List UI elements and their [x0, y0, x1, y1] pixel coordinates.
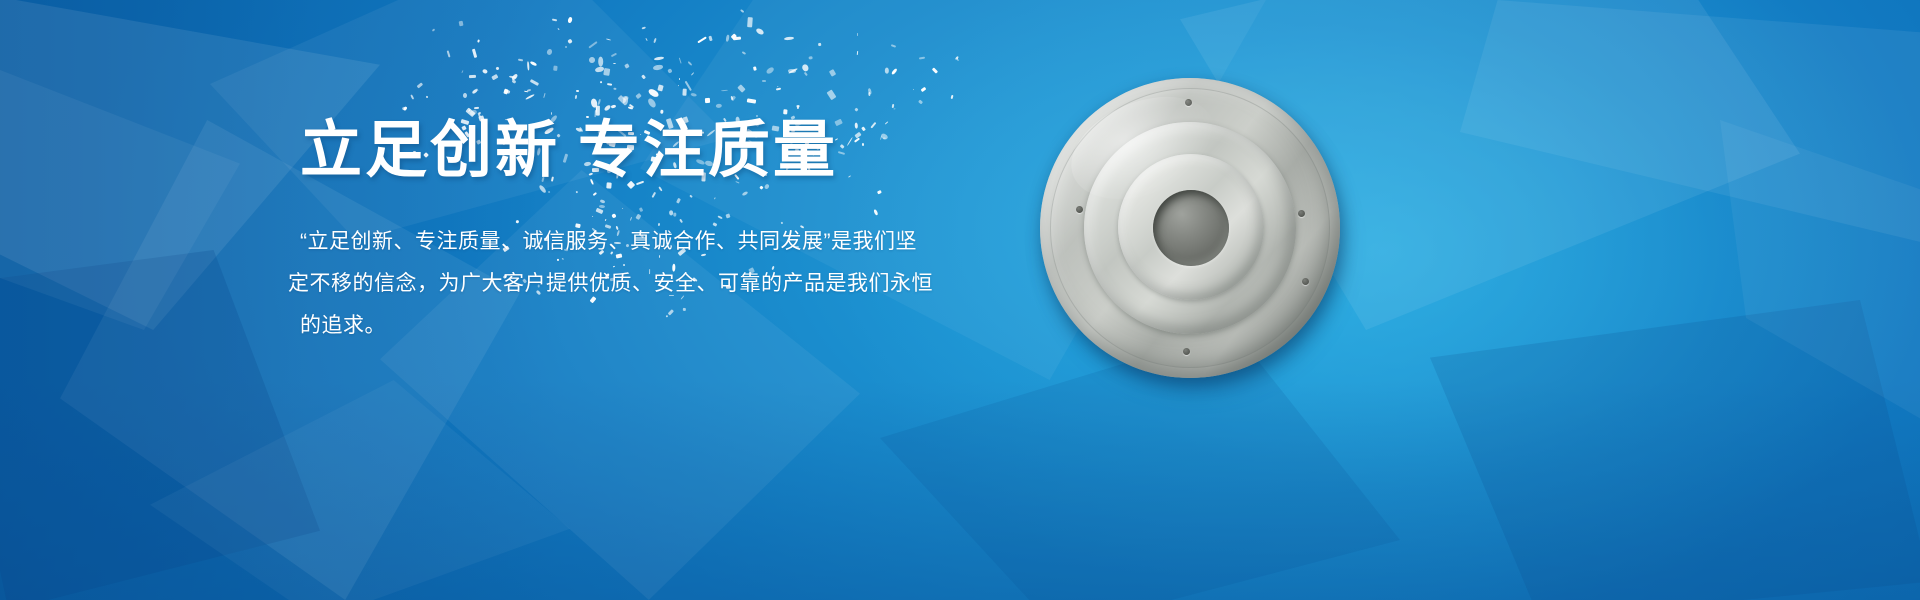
splatter-fleck: [463, 93, 467, 98]
hero-banner: 立足创新专注质量 “立足创新、专注质量、诚信服务、真诚合作、共同发展”是我们坚 …: [0, 0, 1920, 600]
bolt-hole: [1302, 278, 1309, 285]
product-image-metal-flange: [1040, 78, 1350, 388]
splatter-fleck: [747, 17, 752, 27]
description-line-3: 的追求。: [300, 305, 950, 347]
splatter-fleck: [856, 51, 858, 55]
description-line-2: 定不移的信念，为广大客户提供优质、安全、可靠的产品是我们永恒: [300, 263, 950, 305]
splatter-fleck: [613, 87, 617, 90]
splatter-fleck: [474, 106, 479, 108]
hero-text-column: 立足创新专注质量 “立足创新、专注质量、诚信服务、真诚合作、共同发展”是我们坚 …: [300, 118, 1000, 347]
splatter-fleck: [753, 66, 757, 70]
bolt-hole: [1183, 348, 1190, 355]
splatter-fleck: [788, 68, 796, 72]
bolt-hole: [1298, 210, 1305, 217]
splatter-fleck: [509, 75, 516, 78]
splatter-fleck: [477, 39, 480, 43]
splatter-fleck: [623, 96, 629, 100]
page-title: 立足创新专注质量: [300, 118, 1000, 185]
bolt-hole: [1076, 206, 1083, 213]
splatter-fleck: [705, 98, 711, 103]
splatter-fleck: [682, 88, 686, 96]
splatter-fleck: [885, 68, 889, 74]
splatter-fleck: [783, 110, 787, 115]
flange-center-bore: [1153, 190, 1229, 266]
splatter-fleck: [746, 98, 755, 103]
headline-part-1: 立足创新: [300, 116, 560, 185]
splatter-fleck: [553, 65, 558, 71]
headline-part-2: 专注质量: [578, 116, 838, 185]
hero-description: “立足创新、专注质量、诚信服务、真诚合作、共同发展”是我们坚 定不移的信念，为广…: [300, 221, 950, 347]
bolt-hole: [1185, 99, 1192, 106]
description-line-1: “立足创新、专注质量、诚信服务、真诚合作、共同发展”是我们坚: [300, 221, 950, 263]
splatter-fleck: [598, 57, 603, 67]
splatter-fleck: [733, 36, 741, 40]
